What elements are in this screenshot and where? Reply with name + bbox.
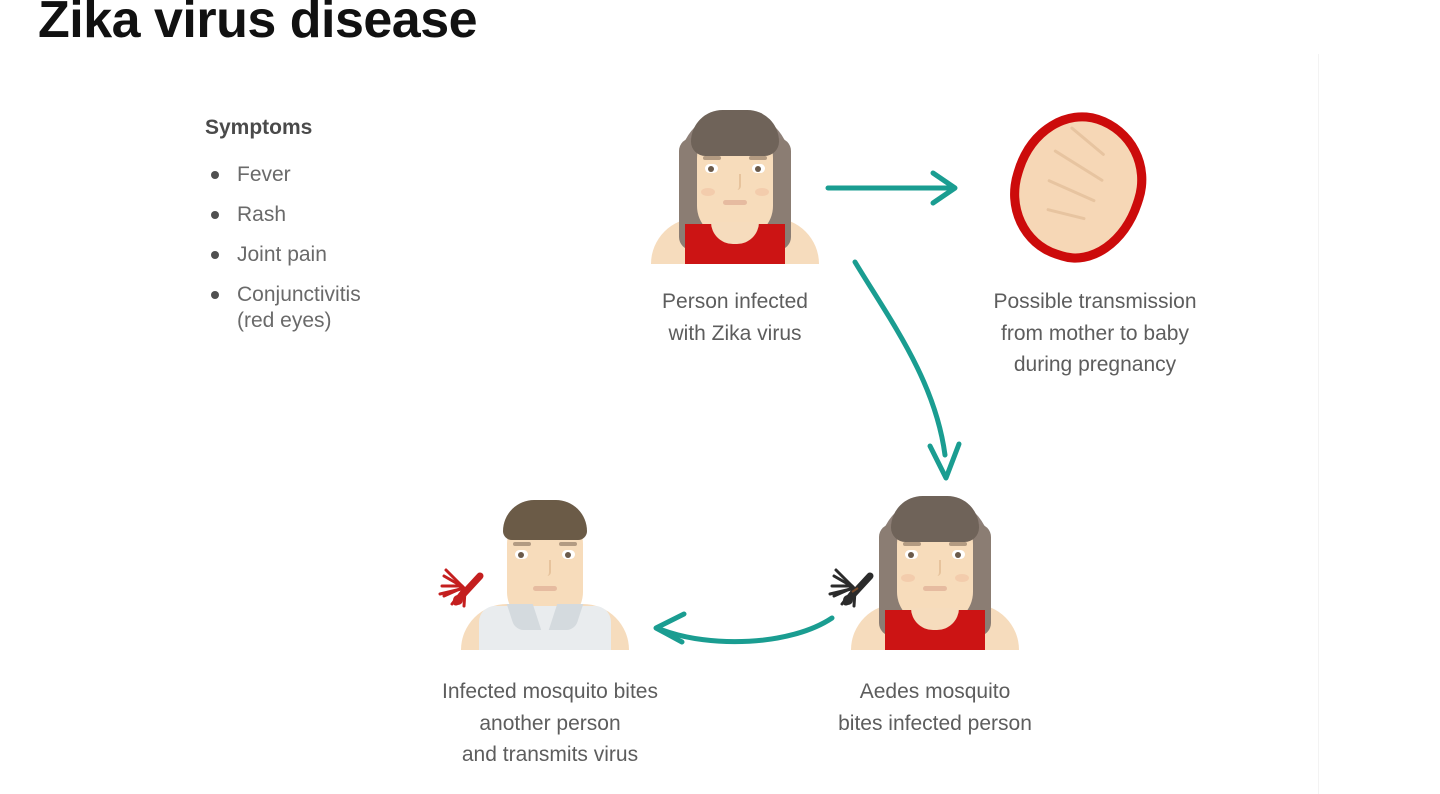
symptom-item-rash: Rash (205, 202, 435, 228)
avatar-pupil-right (955, 552, 961, 558)
avatar-red-top (685, 224, 785, 264)
avatar-brow-left (903, 542, 921, 546)
bullet-icon (211, 291, 219, 299)
avatar-mouth (723, 200, 747, 205)
symptom-item-conjunctivitis: Conjunctivitis (red eyes) (205, 282, 435, 334)
symptom-item-fever: Fever (205, 162, 435, 188)
fetus-detail-line (1046, 208, 1086, 221)
avatar-mouth (533, 586, 557, 591)
avatar-brow-left (513, 542, 531, 546)
avatar-hair-top (691, 110, 779, 156)
avatar-hair-top (891, 496, 979, 542)
avatar-cheek-right (955, 574, 969, 582)
avatar-nose (731, 174, 741, 190)
avatar-mouth (923, 586, 947, 591)
avatar-brow-right (559, 542, 577, 546)
symptom-label: Fever (237, 163, 291, 186)
bullet-icon (211, 251, 219, 259)
symptoms-heading: Symptoms (205, 116, 435, 140)
avatar-nose (541, 560, 551, 576)
page-title: Zika virus disease (38, 0, 477, 50)
arrow-mosquito-to-person (640, 600, 850, 660)
bullet-icon (211, 171, 219, 179)
avatar-pupil-left (518, 552, 524, 558)
caption-mosquito-bites-another: Infected mosquito bites another person a… (390, 676, 710, 771)
caption-mosquito-bites-infected: Aedes mosquito bites infected person (790, 676, 1080, 739)
avatar-nose (931, 560, 941, 576)
mosquito-red-icon (432, 556, 496, 620)
avatar-shirt (479, 606, 611, 650)
fetus-detail-line (1047, 179, 1096, 203)
avatar-pupil-right (565, 552, 571, 558)
avatar-cheek-left (901, 574, 915, 582)
avatar-brow-left (703, 156, 721, 160)
avatar-pupil-right (755, 166, 761, 172)
avatar-pupil-left (908, 552, 914, 558)
symptom-label: Joint pain (237, 243, 327, 266)
fetus-outline (992, 95, 1164, 278)
bullet-icon (211, 211, 219, 219)
slide-canvas: Zika virus disease Symptoms Fever Rash J… (0, 0, 1440, 794)
avatar-cheek-right (755, 188, 769, 196)
avatar-pupil-left (708, 166, 714, 172)
avatar-hair-short (503, 500, 587, 540)
woman-avatar-icon (645, 104, 825, 264)
symptom-label: Conjunctivitis (red eyes) (237, 283, 361, 332)
symptom-item-joint-pain: Joint pain (205, 242, 435, 268)
symptoms-block: Symptoms Fever Rash Joint pain Conjuncti… (205, 116, 435, 348)
avatar-brow-right (949, 542, 967, 546)
fetus-detail-line (1070, 126, 1106, 157)
arrow-person-to-mosquito (830, 250, 990, 495)
fetus-body (1003, 107, 1152, 268)
arrow-person-to-fetus (825, 165, 970, 211)
slide-right-edge (1318, 54, 1319, 794)
fetus-detail-line (1053, 149, 1104, 182)
symptom-label: Rash (237, 203, 286, 226)
avatar-cheek-left (701, 188, 715, 196)
fetus-icon (1000, 108, 1160, 268)
avatar-brow-right (749, 156, 767, 160)
avatar-red-top (885, 610, 985, 650)
